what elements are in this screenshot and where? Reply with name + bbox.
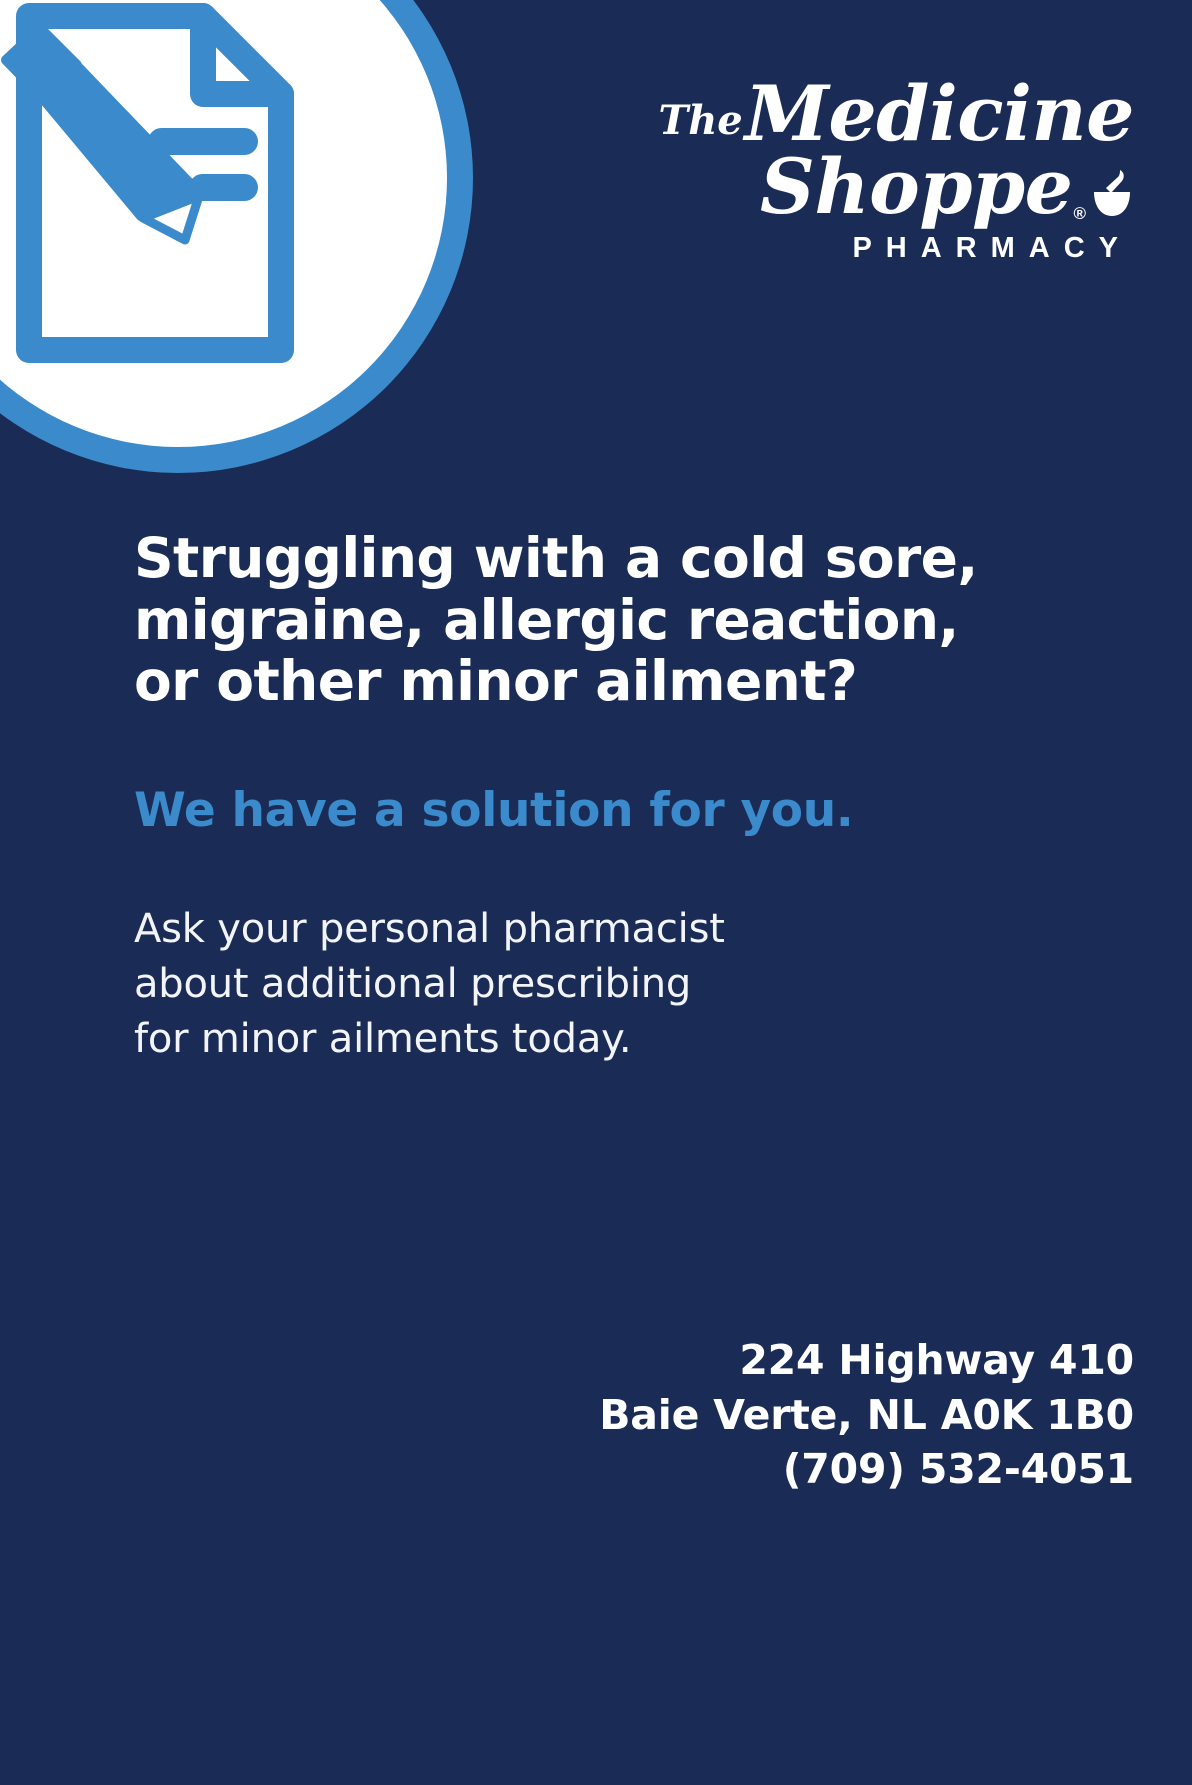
mortar-and-pestle-icon (1090, 168, 1134, 220)
logo-the-word: The (658, 101, 742, 141)
poster-canvas: The Medicine Shoppe ® PHARMACY Strugglin… (0, 0, 1192, 1785)
document-with-pencil-icon (0, 0, 373, 378)
circular-badge (0, 0, 473, 473)
body-line-3: for minor ailments today. (134, 1012, 1132, 1067)
logo-shoppe-word: Shoppe (760, 151, 1072, 224)
registered-mark: ® (1073, 204, 1086, 224)
address-phone[interactable]: (709) 532-4051 (599, 1442, 1134, 1497)
page-title: Struggling with a cold sore, migraine, a… (134, 528, 1132, 713)
body-line-2: about additional prescribing (134, 957, 1132, 1012)
store-address-block: 224 Highway 410 Baie Verte, NL A0K 1B0 (… (599, 1333, 1134, 1497)
body-line-1: Ask your personal pharmacist (134, 902, 1132, 957)
subheadline: We have a solution for you. (134, 785, 1132, 837)
logo-line-2: Shoppe ® (734, 151, 1134, 224)
address-city-province-postal: Baie Verte, NL A0K 1B0 (599, 1388, 1134, 1443)
logo-medicine-word: Medicine (745, 78, 1134, 151)
copy-block: Struggling with a cold sore, migraine, a… (134, 528, 1132, 1067)
headline-line-2: migraine, allergic reaction, (134, 590, 1132, 652)
brand-logo: The Medicine Shoppe ® PHARMACY (734, 78, 1134, 265)
headline-line-1: Struggling with a cold sore, (134, 528, 1132, 590)
logo-line-1: The Medicine (734, 78, 1134, 151)
body-copy: Ask your personal pharmacist about addit… (134, 902, 1132, 1066)
logo-pharmacy-tagline: PHARMACY (734, 232, 1134, 265)
address-street: 224 Highway 410 (599, 1333, 1134, 1388)
headline-line-3: or other minor ailment? (134, 651, 1132, 713)
